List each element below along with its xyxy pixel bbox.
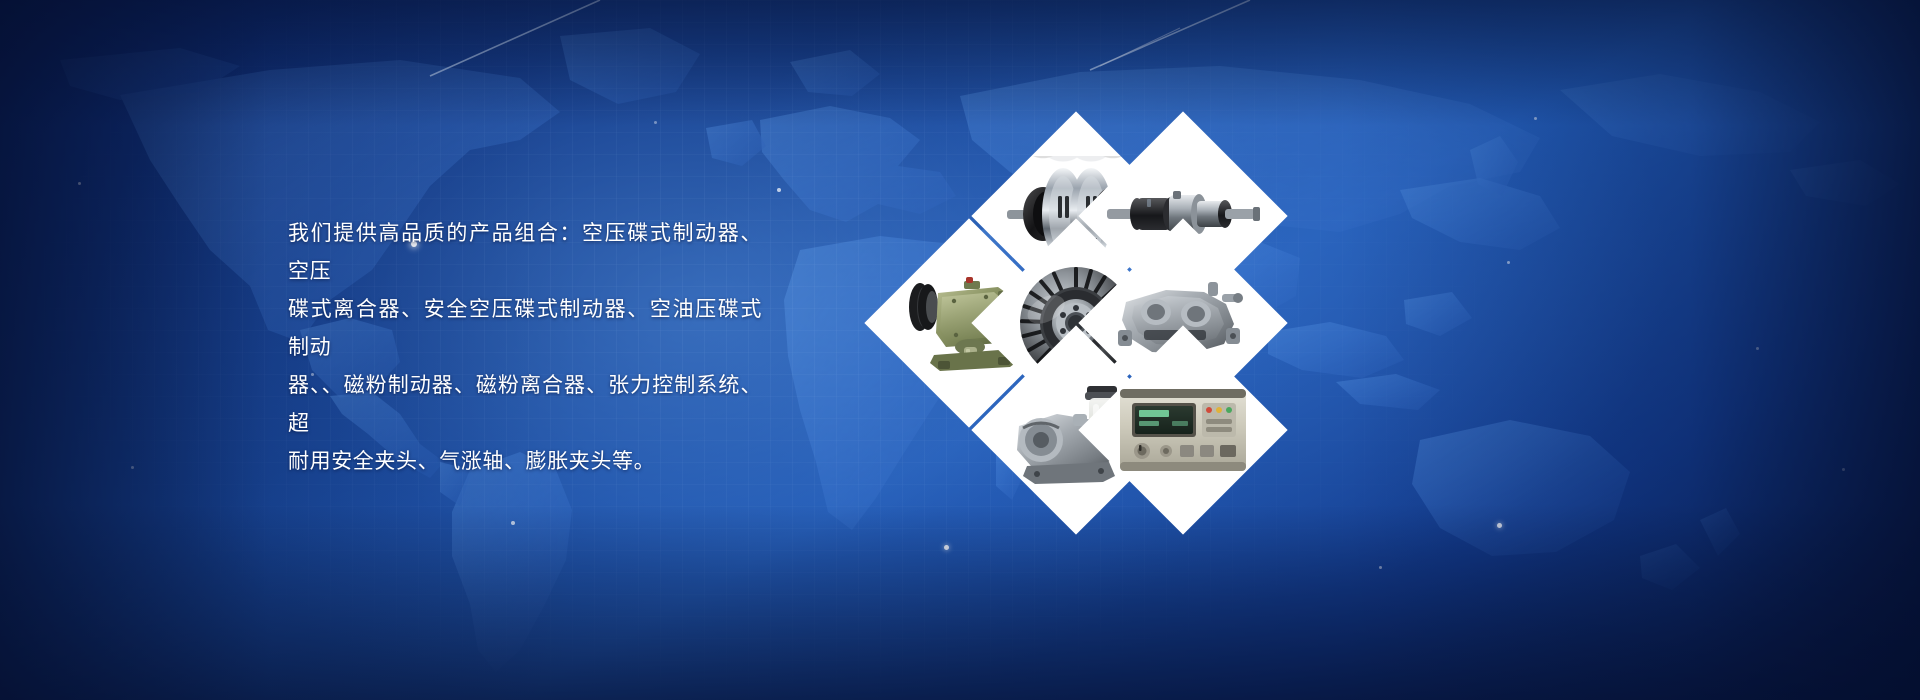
description-line-4: 耐用安全夹头、气涨轴、膨胀夹头等。 [288,443,762,481]
product-banner: 我们提供高品质的产品组合：空压碟式制动器、空压 碟式离合器、安全空压碟式制动器、… [0,0,1920,700]
product-diamond-grid [826,128,1326,448]
description-line-1: 我们提供高品质的产品组合：空压碟式制动器、空压 [288,215,762,291]
description-line-2: 碟式离合器、安全空压碟式制动器、空油压碟式制动 [288,291,762,367]
banner-description: 我们提供高品质的产品组合：空压碟式制动器、空压 碟式离合器、安全空压碟式制动器、… [288,215,762,481]
description-line-3: 器、、磁粉制动器、磁粉离合器、张力控制系统、超 [288,367,762,443]
